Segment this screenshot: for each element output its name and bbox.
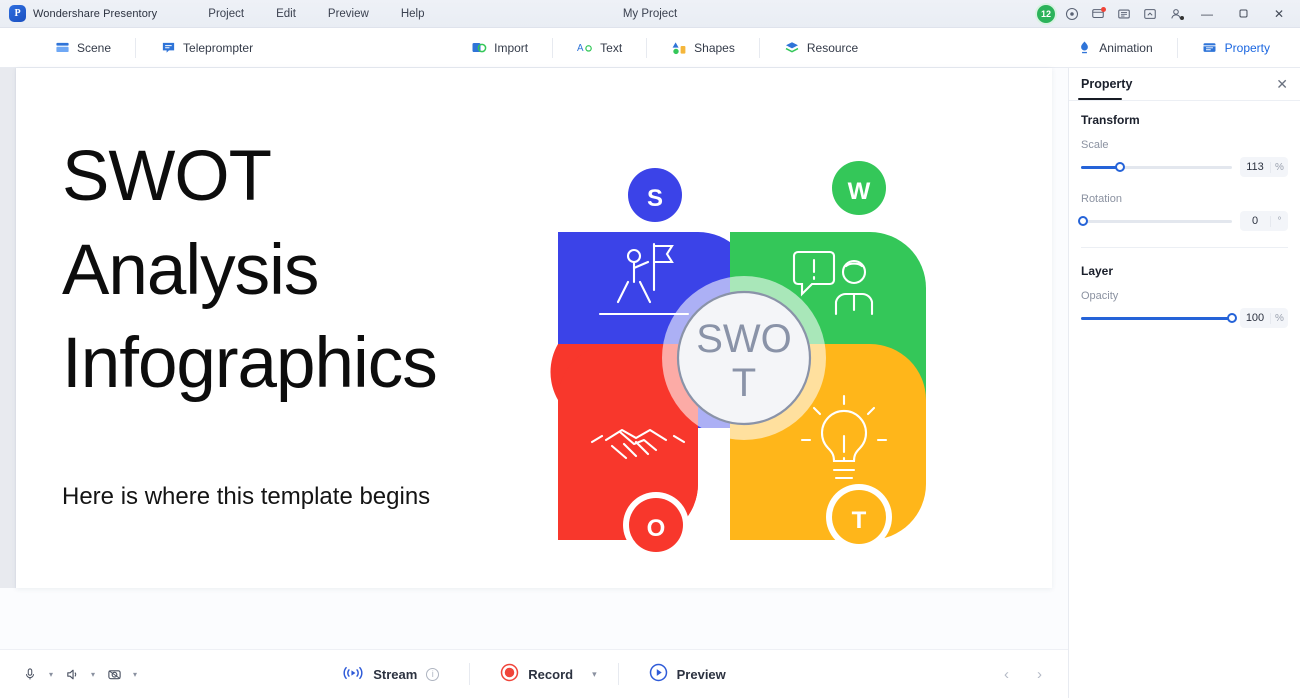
toolbar-text-label: Text: [600, 41, 622, 55]
shapes-icon: [671, 40, 687, 56]
import-icon: [471, 40, 487, 56]
swot-letter-O: O: [623, 492, 689, 558]
rotation-slider-track: [1081, 220, 1232, 223]
toolbar-teleprompter-button[interactable]: Teleprompter: [150, 36, 263, 60]
opacity-slider-knob[interactable]: [1227, 313, 1237, 323]
rotation-slider-knob[interactable]: [1078, 216, 1088, 226]
toolbar-animation-label: Animation: [1099, 41, 1152, 55]
record-icon: [500, 663, 519, 685]
toolbar-scene-button[interactable]: Scene: [44, 36, 121, 60]
toolbar-shapes-label: Shapes: [694, 41, 735, 55]
toolbar-divider: [552, 38, 553, 58]
record-dropdown-caret[interactable]: ▾: [587, 669, 602, 680]
rotation-unit: °: [1270, 216, 1288, 227]
slide-title-text[interactable]: SWOT Analysis Infographics: [62, 130, 482, 411]
toolbar-divider: [759, 38, 760, 58]
svg-text:T: T: [732, 361, 756, 405]
property-icon: [1202, 40, 1218, 56]
opacity-row: 100 %: [1081, 308, 1288, 328]
bottom-divider: [469, 663, 470, 685]
notification-icon[interactable]: [1086, 3, 1110, 25]
teleprompter-icon: [160, 40, 176, 56]
app-logo-icon: P: [9, 5, 26, 22]
window-minimize-button[interactable]: —: [1190, 0, 1224, 28]
rotation-value[interactable]: 0: [1240, 215, 1270, 227]
opacity-label: Opacity: [1081, 290, 1288, 302]
svg-text:S: S: [647, 185, 663, 212]
menu-item-help[interactable]: Help: [398, 6, 428, 22]
stream-info-icon[interactable]: i: [426, 668, 439, 681]
menu-item-project[interactable]: Project: [205, 6, 247, 22]
rotation-label: Rotation: [1081, 193, 1288, 205]
scale-slider-knob[interactable]: [1115, 162, 1125, 172]
toolbar-divider: [1177, 38, 1178, 58]
notification-dot: [1101, 7, 1106, 12]
record-label: Record: [528, 667, 573, 682]
brand: P Wondershare Presentory: [0, 5, 157, 22]
app-name: Wondershare Presentory: [33, 8, 157, 20]
property-panel-header: Property ✕: [1069, 68, 1300, 100]
scale-slider[interactable]: [1081, 160, 1232, 174]
toolbar-teleprompter-label: Teleprompter: [183, 41, 253, 55]
close-icon[interactable]: ✕: [1276, 77, 1288, 91]
window-maximize-button[interactable]: [1226, 0, 1260, 28]
opacity-slider-fill: [1081, 317, 1232, 320]
svg-text:SWO: SWO: [696, 317, 792, 361]
scale-value-box[interactable]: 113 %: [1240, 157, 1288, 177]
toolbar-import-button[interactable]: Import: [461, 36, 538, 60]
text-icon: A: [577, 40, 593, 56]
swot-infographic[interactable]: SWO T S W: [524, 148, 964, 568]
rewards-badge-icon[interactable]: 12: [1034, 3, 1058, 25]
preview-button[interactable]: Preview: [635, 657, 740, 691]
svg-text:A: A: [577, 43, 584, 54]
property-panel: Property ✕ Transform Scale 113 % Rotatio…: [1068, 68, 1300, 698]
svg-text:O: O: [647, 515, 666, 542]
playback-controls: Stream i Record ▾ Preview: [0, 657, 1068, 691]
property-panel-title: Property: [1081, 77, 1132, 91]
bottom-bar: ▾ ▾ ▾ Stream i: [0, 649, 1068, 698]
scale-row: 113 %: [1081, 157, 1288, 177]
account-status-dot: [1180, 16, 1184, 20]
titlebar-actions: 12 — ✕: [1034, 0, 1300, 28]
swot-letter-S: S: [622, 162, 688, 228]
stage-area: SWOT Analysis Infographics Here is where…: [0, 68, 1068, 649]
opacity-unit: %: [1270, 313, 1288, 324]
toolbar-property-button[interactable]: Property: [1192, 36, 1280, 60]
svg-text:T: T: [852, 507, 867, 534]
layer-section-title: Layer: [1081, 264, 1288, 278]
toolbar-property-label: Property: [1225, 41, 1270, 55]
display-icon[interactable]: [1112, 3, 1136, 25]
stream-button[interactable]: Stream i: [328, 658, 453, 691]
scene-icon: [54, 40, 70, 56]
transform-section: Transform Scale 113 % Rotation: [1069, 101, 1300, 231]
app-window: P Wondershare Presentory Project Edit Pr…: [0, 0, 1300, 698]
toolbar-divider: [646, 38, 647, 58]
scale-unit: %: [1270, 162, 1288, 173]
toolbar-animation-button[interactable]: Animation: [1066, 36, 1162, 60]
toolbar-shapes-button[interactable]: Shapes: [661, 36, 745, 60]
opacity-value-box[interactable]: 100 %: [1240, 308, 1288, 328]
upgrade-icon[interactable]: [1138, 3, 1162, 25]
preview-play-icon: [649, 663, 668, 685]
menu-bar: Project Edit Preview Help: [205, 6, 427, 22]
panel-title-underline: [1078, 98, 1122, 101]
rotation-slider[interactable]: [1081, 214, 1232, 228]
resource-icon: [784, 40, 800, 56]
account-icon[interactable]: [1164, 3, 1188, 25]
rotation-row: 0 °: [1081, 211, 1288, 231]
toolbar-divider: [135, 38, 136, 58]
opacity-value[interactable]: 100: [1240, 312, 1270, 324]
scale-label: Scale: [1081, 139, 1288, 151]
record-button[interactable]: Record: [486, 657, 587, 691]
bottom-divider: [618, 663, 619, 685]
title-bar: P Wondershare Presentory Project Edit Pr…: [0, 0, 1300, 28]
main-toolbar: Scene Teleprompter Import A Text: [0, 28, 1300, 68]
swot-letter-T: T: [826, 484, 892, 550]
window-close-button[interactable]: ✕: [1262, 0, 1296, 28]
rotation-value-box[interactable]: 0 °: [1240, 211, 1288, 231]
canvas-left-strip: [0, 68, 16, 588]
stream-icon: [342, 664, 364, 685]
swot-center-circle: SWO T: [662, 276, 826, 440]
toolbar-scene-label: Scene: [77, 41, 111, 55]
animation-icon: [1076, 40, 1092, 56]
svg-text:W: W: [848, 178, 871, 205]
transform-section-title: Transform: [1081, 113, 1288, 127]
swot-letter-W: W: [826, 155, 892, 221]
menu-item-edit[interactable]: Edit: [273, 6, 299, 22]
toolbar-resource-button[interactable]: Resource: [774, 36, 868, 60]
slide-canvas[interactable]: SWOT Analysis Infographics Here is where…: [16, 68, 1052, 588]
menu-item-preview[interactable]: Preview: [325, 6, 372, 22]
stream-label: Stream: [373, 667, 417, 682]
toolbar-text-button[interactable]: A Text: [567, 36, 632, 60]
preview-label: Preview: [677, 667, 726, 682]
timer-icon[interactable]: [1060, 3, 1084, 25]
scale-value[interactable]: 113: [1240, 161, 1270, 173]
toolbar-resource-label: Resource: [807, 41, 858, 55]
opacity-slider[interactable]: [1081, 311, 1232, 325]
layer-section: Layer Opacity 100 %: [1069, 248, 1300, 328]
toolbar-import-label: Import: [494, 41, 528, 55]
